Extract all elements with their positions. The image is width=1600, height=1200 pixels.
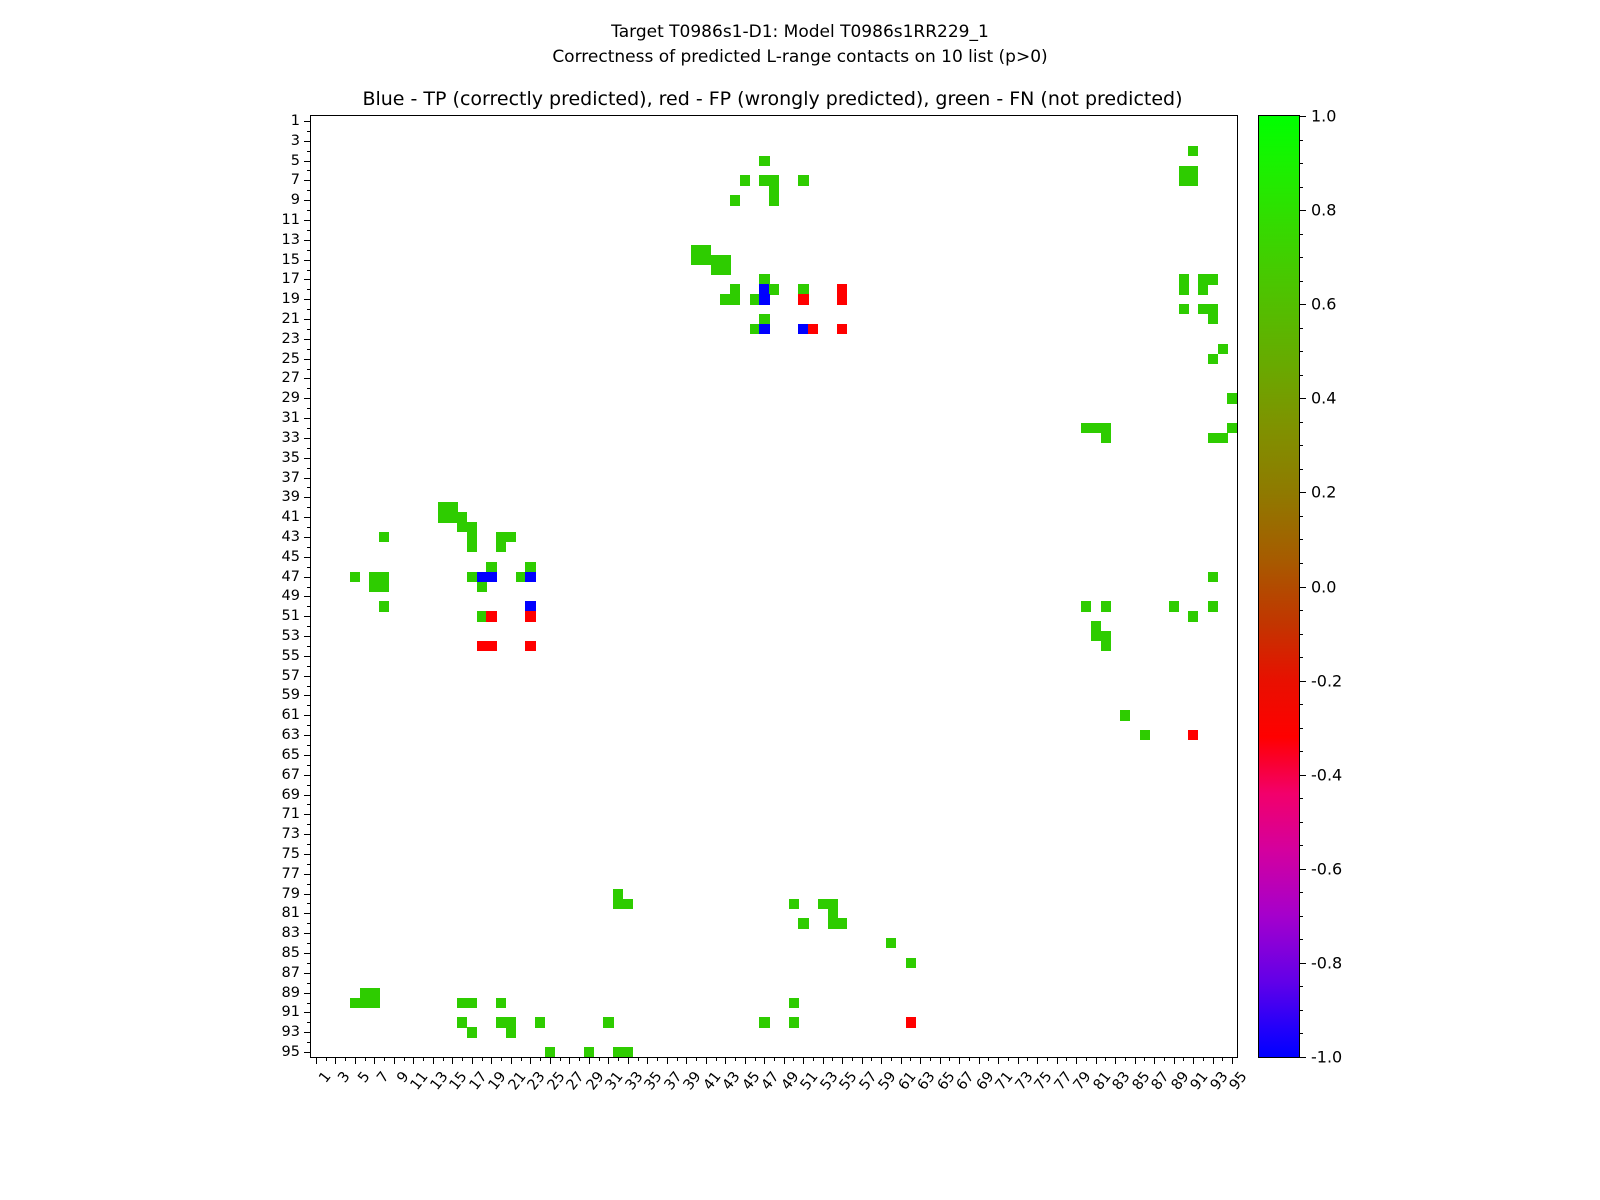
cell-fp [1188,730,1198,740]
y-minor-tick [307,230,311,231]
contact-map-plot[interactable]: 1357911131517192123252729313335373941434… [310,115,1238,1058]
cell-fn [769,284,779,294]
y-minor-tick [307,844,311,845]
colorbar-minor-tick [1299,351,1303,352]
x-tick-39 [686,1057,687,1064]
cell-fn [1188,175,1198,185]
colorbar-minor-tick [1299,375,1303,376]
y-tick-11 [304,220,311,221]
cell-fn [1101,601,1111,611]
cell-fn [720,255,730,265]
colorbar-minor-tick [1299,516,1303,517]
colorbar-minor-tick [1299,563,1303,564]
x-minor-tick [813,1057,814,1061]
y-tick-label-41: 41 [282,509,300,525]
y-tick-59 [304,695,311,696]
cell-tp [759,294,769,304]
y-minor-tick [307,170,311,171]
y-minor-tick [307,943,311,944]
y-minor-tick [307,547,311,548]
cell-fn [886,938,896,948]
cell-fn [730,284,740,294]
x-tick-69 [979,1057,980,1064]
cell-fn [1208,354,1218,364]
colorbar-minor-tick [1299,1010,1303,1011]
y-tick-7 [304,180,311,181]
cell-fp [486,611,496,621]
x-tick-23 [530,1057,531,1064]
cell-tp [759,324,769,334]
colorbar-minor-tick [1299,281,1303,282]
colorbar-minor-tick [1299,257,1303,258]
y-tick-55 [304,656,311,657]
colorbar-tick-label: -0.6 [1311,859,1342,878]
y-tick-label-23: 23 [282,331,300,347]
x-minor-tick [443,1057,444,1061]
x-tick-59 [881,1057,882,1064]
x-tick-label-3: 3 [336,1069,354,1086]
x-minor-tick [423,1057,424,1061]
x-minor-tick [579,1057,580,1061]
y-tick-23 [304,339,311,340]
y-tick-83 [304,933,311,934]
cell-fn [369,998,379,1008]
cell-fn [457,512,467,522]
y-tick-label-9: 9 [291,192,300,208]
y-minor-tick [307,606,311,607]
x-tick-33 [628,1057,629,1064]
cell-fn [496,532,506,542]
x-minor-tick [891,1057,892,1061]
cell-fn [1208,314,1218,324]
colorbar-tick [1299,681,1306,682]
x-tick-7 [374,1057,375,1064]
cell-fn [1188,146,1198,156]
x-tick-5 [355,1057,356,1064]
x-tick-89 [1174,1057,1175,1064]
y-minor-tick [307,131,311,132]
cell-fn [496,998,506,1008]
cell-fn [369,572,379,582]
colorbar-minor-tick [1299,939,1303,940]
x-tick-9 [394,1057,395,1064]
colorbar-tick-label: 0.0 [1311,577,1336,596]
x-tick-85 [1135,1057,1136,1064]
x-minor-tick [832,1057,833,1061]
y-minor-tick [307,349,311,350]
cell-fn [1198,274,1208,284]
x-tick-35 [647,1057,648,1064]
colorbar-tick-label: 0.4 [1311,389,1336,408]
colorbar-tick [1299,775,1306,776]
x-tick-13 [433,1057,434,1064]
x-minor-tick [1222,1057,1223,1061]
cell-fn [467,542,477,552]
colorbar-tick [1299,492,1306,493]
x-minor-tick [696,1057,697,1061]
y-tick-label-49: 49 [282,588,300,604]
colorbar-minor-tick [1299,892,1303,893]
x-minor-tick [949,1057,950,1061]
cell-fn [477,611,487,621]
cell-fn [447,502,457,512]
y-tick-label-67: 67 [282,767,300,783]
y-tick-label-89: 89 [282,985,300,1001]
cell-fn [486,562,496,572]
cell-fn [759,1017,769,1027]
x-minor-tick [677,1057,678,1061]
x-tick-45 [745,1057,746,1064]
colorbar-tick [1299,587,1306,588]
x-minor-tick [1125,1057,1126,1061]
cell-fn [759,156,769,166]
cell-fn [1101,423,1111,433]
x-tick-11 [413,1057,414,1064]
x-minor-tick [657,1057,658,1061]
y-minor-tick [307,983,311,984]
colorbar-minor-tick [1299,187,1303,188]
cell-fp [837,294,847,304]
cell-fn [379,572,389,582]
colorbar-tick [1299,398,1306,399]
y-tick-41 [304,517,311,518]
colorbar-minor-tick [1299,704,1303,705]
x-minor-tick [560,1057,561,1061]
cell-fn [457,1017,467,1027]
x-minor-tick [482,1057,483,1061]
cell-fn [828,908,838,918]
cell-fn [837,918,847,928]
y-tick-label-59: 59 [282,687,300,703]
y-tick-27 [304,378,311,379]
x-tick-73 [1018,1057,1019,1064]
colorbar-tick-label: -1.0 [1311,1048,1342,1067]
x-tick-25 [550,1057,551,1064]
y-minor-tick [307,309,311,310]
x-tick-47 [764,1057,765,1064]
colorbar-tick [1299,304,1306,305]
cell-fp [798,294,808,304]
colorbar-minor-tick [1299,798,1303,799]
colorbar-minor-tick [1299,986,1303,987]
cell-fn [1208,572,1218,582]
x-minor-tick [1047,1057,1048,1061]
cell-fn [730,294,740,304]
cell-fn [730,195,740,205]
cell-fn [750,324,760,334]
x-tick-91 [1193,1057,1194,1064]
y-minor-tick [307,903,311,904]
y-tick-53 [304,636,311,637]
y-tick-65 [304,755,311,756]
cell-fn [1169,601,1179,611]
x-tick-label-5: 5 [355,1069,373,1086]
y-tick-label-93: 93 [282,1024,300,1040]
x-minor-tick [969,1057,970,1061]
y-tick-33 [304,438,311,439]
colorbar-tick-label: -0.2 [1311,671,1342,690]
cell-fp [837,324,847,334]
figure-suptitle: Target T0986s1-D1: Model T0986s1RR229_1 … [0,20,1600,70]
y-tick-label-27: 27 [282,370,300,386]
y-minor-tick [307,190,311,191]
y-minor-tick [307,487,311,488]
cell-fn [350,572,360,582]
cell-fn [701,245,711,255]
colorbar-minor-tick [1299,610,1303,611]
cell-fn [691,245,701,255]
colorbar-minor-tick [1299,469,1303,470]
x-minor-tick [1164,1057,1165,1061]
cell-fn [467,522,477,532]
cell-fn [438,502,448,512]
cell-fn [711,255,721,265]
cell-fn [1208,601,1218,611]
colorbar-tick-label: -0.4 [1311,765,1342,784]
cell-fn [720,294,730,304]
colorbar-minor-tick [1299,657,1303,658]
y-tick-81 [304,913,311,914]
cell-fn [789,899,799,909]
cell-fn [477,582,487,592]
cell-fn [506,532,516,542]
y-minor-tick [307,1022,311,1023]
cell-tp [486,572,496,582]
x-minor-tick [501,1057,502,1061]
cell-fn [1179,175,1189,185]
x-tick-21 [511,1057,512,1064]
y-tick-63 [304,735,311,736]
y-tick-label-81: 81 [282,905,300,921]
x-tick-label-95: 95 [1227,1069,1251,1093]
x-tick-51 [803,1057,804,1064]
colorbar-tick [1299,210,1306,211]
x-tick-label-1: 1 [316,1069,334,1086]
y-tick-label-51: 51 [282,608,300,624]
x-tick-61 [901,1057,902,1064]
y-tick-label-61: 61 [282,707,300,723]
y-tick-47 [304,577,311,578]
cell-fp [486,641,496,651]
colorbar-minor-tick [1299,1033,1303,1034]
y-tick-label-45: 45 [282,549,300,565]
y-minor-tick [307,408,311,409]
cell-fn [691,255,701,265]
colorbar-minor-tick [1299,845,1303,846]
y-tick-85 [304,953,311,954]
cell-fn [467,998,477,1008]
y-minor-tick [307,864,311,865]
y-tick-21 [304,319,311,320]
cell-fn [467,532,477,542]
x-tick-55 [842,1057,843,1064]
x-minor-tick [930,1057,931,1061]
contact-map-cells [311,116,1237,1057]
cell-fn [769,195,779,205]
y-tick-label-91: 91 [282,1004,300,1020]
colorbar-tick-label: 1.0 [1311,107,1336,126]
colorbar-tick-label: 0.8 [1311,201,1336,220]
cell-fn [1218,344,1228,354]
cell-fn [447,512,457,522]
x-tick-41 [706,1057,707,1064]
y-tick-label-17: 17 [282,271,300,287]
colorbar-minor-tick [1299,916,1303,917]
y-minor-tick [307,785,311,786]
x-tick-83 [1115,1057,1116,1064]
cell-fn [1101,631,1111,641]
y-minor-tick [307,963,311,964]
y-minor-tick [307,1003,311,1004]
cell-fn [1140,730,1150,740]
cell-fn [759,175,769,185]
cell-fn [360,988,370,998]
cell-fn [798,175,808,185]
x-minor-tick [599,1057,600,1061]
x-tick-93 [1213,1057,1214,1064]
y-tick-9 [304,200,311,201]
y-tick-label-73: 73 [282,826,300,842]
y-tick-label-43: 43 [282,529,300,545]
x-minor-tick [462,1057,463,1061]
cell-fn [603,1017,613,1027]
cell-fn [740,175,750,185]
y-minor-tick [307,448,311,449]
y-minor-tick [307,725,311,726]
cell-fn [1179,304,1189,314]
y-tick-67 [304,775,311,776]
cell-fn [613,899,623,909]
y-tick-77 [304,874,311,875]
colorbar-minor-tick [1299,822,1303,823]
cell-fn [1198,284,1208,294]
cell-fn [701,255,711,265]
cell-fn [769,175,779,185]
x-minor-tick [1183,1057,1184,1061]
x-minor-tick [618,1057,619,1061]
y-tick-label-87: 87 [282,965,300,981]
cell-fp [525,641,535,651]
y-tick-3 [304,141,311,142]
colorbar-tick [1299,1057,1306,1058]
x-tick-29 [589,1057,590,1064]
colorbar-minor-tick [1299,163,1303,164]
y-minor-tick [307,151,311,152]
x-tick-79 [1076,1057,1077,1064]
y-tick-5 [304,161,311,162]
colorbar-minor-tick [1299,234,1303,235]
y-tick-91 [304,1012,311,1013]
cell-fn [1198,304,1208,314]
y-tick-label-29: 29 [282,390,300,406]
x-tick-3 [335,1057,336,1064]
cell-fn [584,1047,594,1057]
cell-fn [623,899,633,909]
cell-fn [1179,274,1189,284]
cell-fn [360,998,370,1008]
cell-fn [798,284,808,294]
x-tick-49 [784,1057,785,1064]
x-minor-tick [326,1057,327,1061]
y-tick-label-47: 47 [282,569,300,585]
y-minor-tick [307,369,311,370]
cell-fn [1120,710,1130,720]
y-minor-tick [307,884,311,885]
x-tick-75 [1037,1057,1038,1064]
y-tick-label-11: 11 [282,212,300,228]
cell-tp [798,324,808,334]
y-minor-tick [307,1042,311,1043]
cell-fn [1179,284,1189,294]
y-tick-label-57: 57 [282,668,300,684]
y-minor-tick [307,686,311,687]
colorbar-tick [1299,116,1306,117]
y-minor-tick [307,646,311,647]
colorbar-minor-tick [1299,422,1303,423]
cell-fn [506,1027,516,1037]
x-minor-tick [1066,1057,1067,1061]
x-minor-tick [404,1057,405,1061]
y-tick-69 [304,795,311,796]
colorbar-tick [1299,963,1306,964]
cell-fn [496,1017,506,1027]
cell-fn [1091,423,1101,433]
x-minor-tick [910,1057,911,1061]
y-tick-label-19: 19 [282,291,300,307]
cell-fn [798,918,808,928]
cell-fn [906,958,916,968]
x-minor-tick [638,1057,639,1061]
y-tick-label-25: 25 [282,351,300,367]
x-tick-17 [472,1057,473,1064]
y-tick-31 [304,418,311,419]
y-tick-39 [304,497,311,498]
y-tick-35 [304,458,311,459]
x-tick-37 [667,1057,668,1064]
cell-fn [496,542,506,552]
cell-fp [525,611,535,621]
y-minor-tick [307,587,311,588]
colorbar-minor-tick [1299,539,1303,540]
x-minor-tick [774,1057,775,1061]
cell-tp [477,572,487,582]
x-tick-87 [1154,1057,1155,1064]
y-minor-tick [307,666,311,667]
cell-fn [828,899,838,909]
y-tick-73 [304,834,311,835]
y-tick-13 [304,240,311,241]
cell-fn [379,532,389,542]
x-minor-tick [384,1057,385,1061]
cell-fn [516,572,526,582]
y-tick-49 [304,596,311,597]
cell-fp [837,284,847,294]
cell-fn [623,1047,633,1057]
cell-fn [379,601,389,611]
x-tick-67 [959,1057,960,1064]
x-minor-tick [1144,1057,1145,1061]
cell-fn [1101,641,1111,651]
cell-fn [1091,621,1101,631]
y-tick-label-77: 77 [282,866,300,882]
x-minor-tick [755,1057,756,1061]
y-tick-label-37: 37 [282,470,300,486]
y-tick-71 [304,814,311,815]
cell-fn [457,522,467,532]
cell-fn [1081,601,1091,611]
cell-fn [506,1017,516,1027]
y-tick-label-71: 71 [282,806,300,822]
